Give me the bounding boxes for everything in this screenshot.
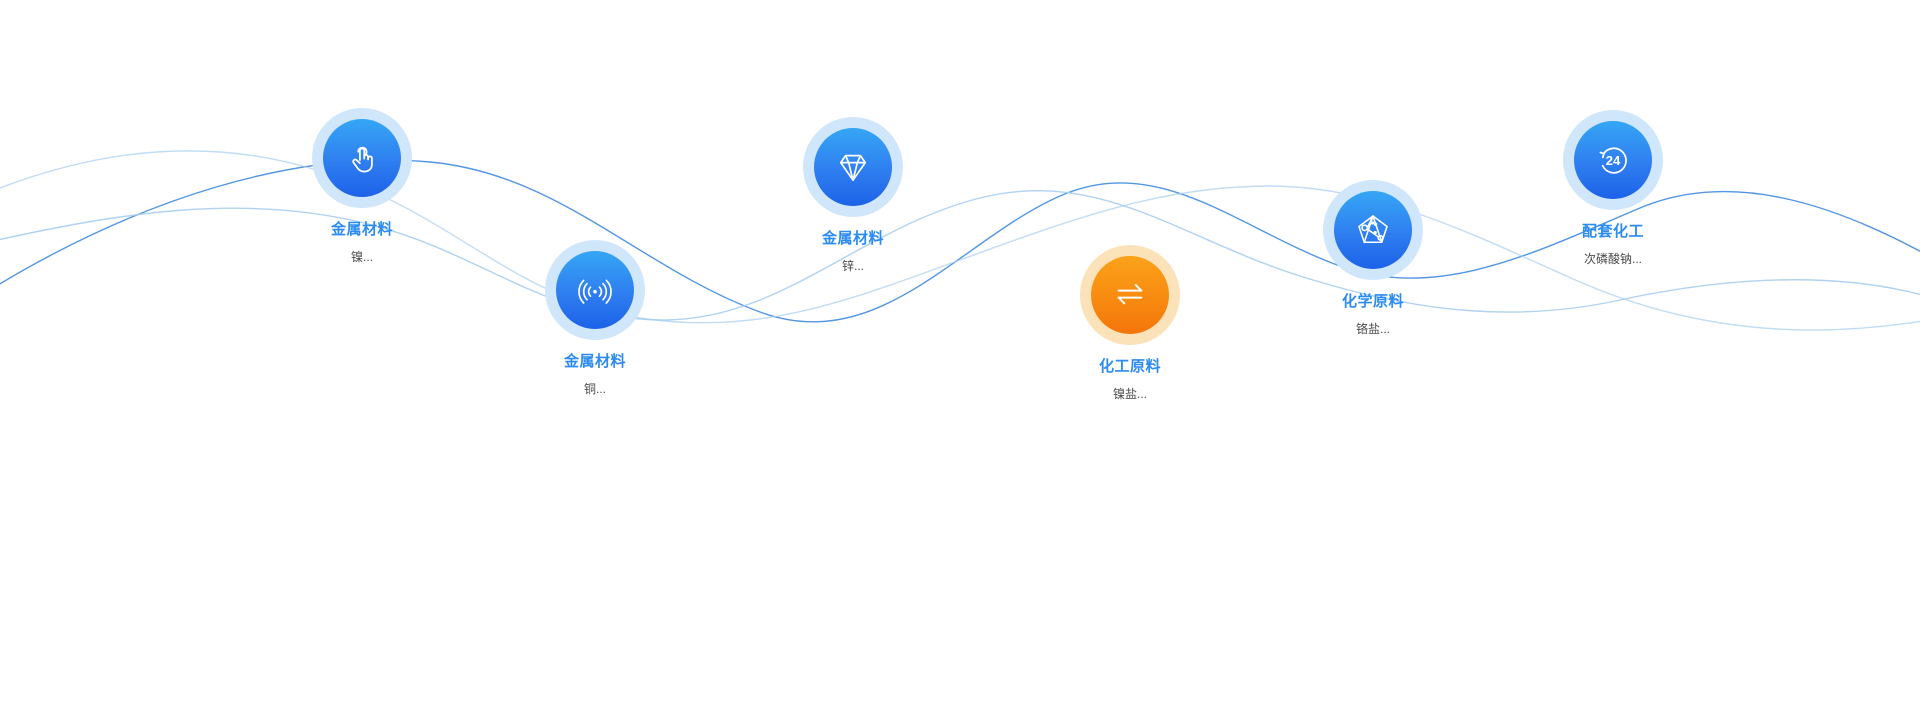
node-icon-disc[interactable] xyxy=(814,128,892,206)
node-icon-disc[interactable] xyxy=(556,251,634,329)
node-icon-disc[interactable] xyxy=(1091,256,1169,334)
node-metal-zinc[interactable]: 金属材料锌... xyxy=(748,117,958,274)
node-chem-nickel-salt[interactable]: 化工原料镍盐... xyxy=(1025,245,1235,402)
node-title: 配套化工 xyxy=(1508,223,1718,242)
click-hand-icon xyxy=(342,138,382,178)
node-subtitle: 镍... xyxy=(257,250,467,266)
node-icon-disc[interactable]: 24 xyxy=(1574,121,1652,199)
node-title: 化学原料 xyxy=(1268,293,1478,312)
node-halo-ring xyxy=(312,108,412,208)
node-halo-ring xyxy=(803,117,903,217)
24-hour-icon: 24 xyxy=(1592,139,1634,181)
node-halo-ring xyxy=(1080,245,1180,345)
svg-text:24: 24 xyxy=(1606,153,1621,168)
node-chem-chrome-salt[interactable]: 化学原料铬盐... xyxy=(1268,180,1478,337)
pentagon-network-icon xyxy=(1352,209,1394,251)
node-title: 金属材料 xyxy=(490,353,700,372)
node-subtitle: 锌... xyxy=(748,259,958,275)
node-title: 化工原料 xyxy=(1025,358,1235,377)
node-halo-ring xyxy=(545,240,645,340)
node-icon-disc[interactable] xyxy=(323,119,401,197)
node-support-chem[interactable]: 24 配套化工次磷酸钠... xyxy=(1508,110,1718,267)
supply-chain-graphic: 金属材料镍... 金属材料铜... 金属材料锌... 化工原料镍盐... 化学原… xyxy=(0,0,1920,718)
node-metal-copper[interactable]: 金属材料铜... xyxy=(490,240,700,397)
diamond-icon xyxy=(832,146,874,188)
exchange-arrows-icon xyxy=(1109,274,1151,316)
node-title: 金属材料 xyxy=(257,221,467,240)
node-halo-ring xyxy=(1323,180,1423,280)
node-subtitle: 次磷酸钠... xyxy=(1508,252,1718,268)
node-halo-ring: 24 xyxy=(1563,110,1663,210)
node-metal-nickel[interactable]: 金属材料镍... xyxy=(257,108,467,265)
node-subtitle: 镍盐... xyxy=(1025,387,1235,403)
signal-wave-icon xyxy=(575,270,615,310)
node-subtitle: 铜... xyxy=(490,382,700,398)
node-title: 金属材料 xyxy=(748,230,958,249)
node-icon-disc[interactable] xyxy=(1334,191,1412,269)
node-subtitle: 铬盐... xyxy=(1268,322,1478,338)
